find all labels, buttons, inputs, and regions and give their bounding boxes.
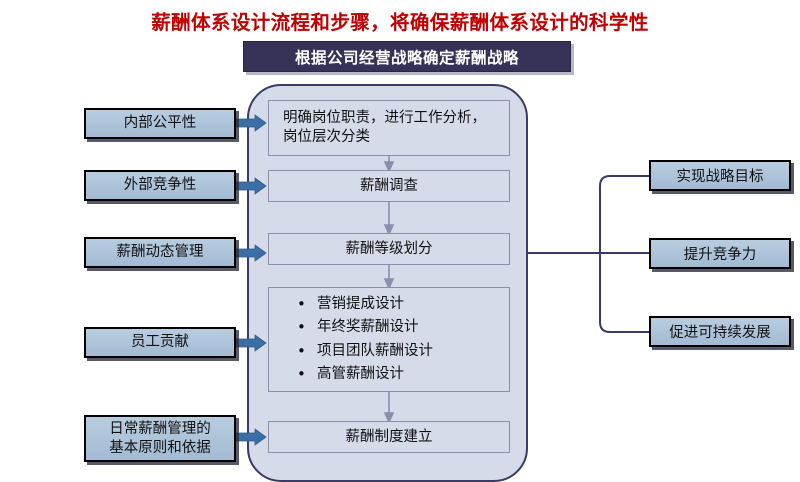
outcome-box-sustainable-development: 促进可持续发展 [649,316,791,347]
input-box-internal-equity: 内部公平性 [84,108,236,139]
flow-step-2: 薪酬调查 [268,170,510,202]
flow-step-1-line1: 明确岗位职责，进行工作分析， [283,109,486,128]
input-box-daily-principles-line1: 日常薪酬管理的 [109,420,211,438]
input-box-daily-principles-line2: 基本原则和依据 [109,439,211,457]
input-box-employee-contribution: 员工贡献 [84,327,236,358]
flow-step-1-line2: 岗位层次分类 [283,128,370,147]
flow-step-4-bullet-list: 营销提成设计 年终奖薪酬设计 项目团队薪酬设计 高管薪酬设计 [283,293,433,387]
flow-step-5: 薪酬制度建立 [268,421,510,453]
input-box-daily-principles: 日常薪酬管理的 基本原则和依据 [84,415,236,462]
list-item: 项目团队薪酬设计 [295,340,433,363]
header-strategy-bar: 根据公司经营战略确定薪酬战略 [243,41,571,72]
list-item: 年终奖薪酬设计 [295,316,433,339]
flow-step-4: 营销提成设计 年终奖薪酬设计 项目团队薪酬设计 高管薪酬设计 [268,287,510,392]
diagram-canvas: 薪酬体系设计流程和步骤，将确保薪酬体系设计的科学性 根据公司经营战略确定薪酬战略 [0,0,800,482]
input-box-external-competitiveness: 外部竞争性 [84,170,236,201]
flow-step-3: 薪酬等级划分 [268,233,510,265]
right-bracket-connector [528,176,649,332]
list-item: 营销提成设计 [295,293,433,316]
outcome-box-strategic-goal: 实现战略目标 [649,160,791,191]
input-box-dynamic-management: 薪酬动态管理 [84,237,236,268]
flow-step-1: 明确岗位职责，进行工作分析， 岗位层次分类 [268,100,510,156]
list-item: 高管薪酬设计 [295,363,433,386]
outcome-box-competitiveness: 提升竞争力 [649,238,791,269]
page-title: 薪酬体系设计流程和步骤，将确保薪酬体系设计的科学性 [0,6,800,35]
